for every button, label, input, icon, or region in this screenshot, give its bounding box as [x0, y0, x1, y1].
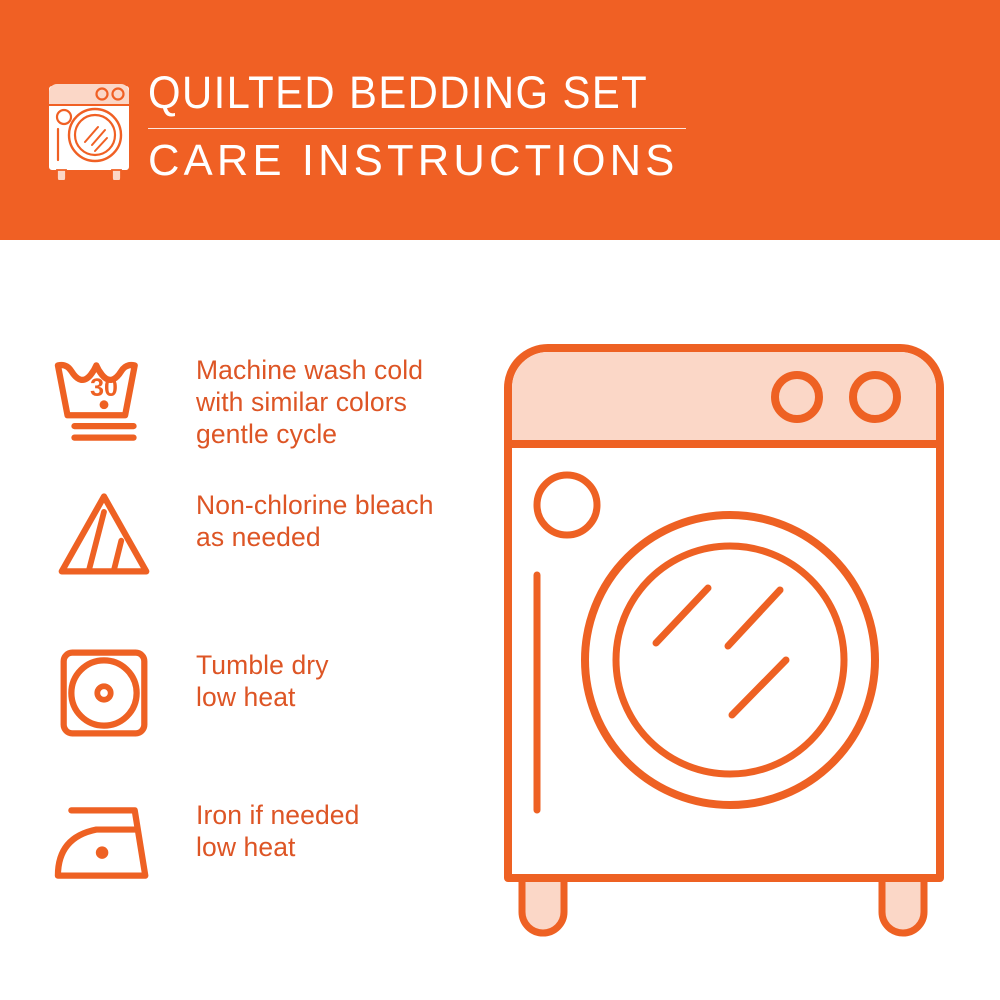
instruction-item-tumble-dry: Tumble dry low heat: [48, 643, 468, 743]
instruction-item-machine-wash: 30 Machine wash cold with similar colors…: [48, 348, 468, 450]
header-banner: QUILTED BEDDING SET CARE INSTRUCTIONS: [0, 0, 1000, 240]
instruction-text-tumble-dry: Tumble dry low heat: [196, 643, 329, 713]
instruction-line: gentle cycle: [196, 418, 423, 450]
care-instructions-list: 30 Machine wash cold with similar colors…: [0, 240, 480, 1000]
iron-low-heat-icon: [48, 793, 160, 893]
front-load-washing-machine-illustration: [490, 330, 980, 950]
page-subtitle: CARE INSTRUCTIONS: [148, 135, 688, 187]
header-text-block: QUILTED BEDDING SET CARE INSTRUCTIONS: [148, 68, 693, 187]
instruction-line: low heat: [196, 681, 329, 713]
instruction-line: as needed: [196, 521, 434, 553]
tumble-dry-low-heat-icon: [48, 643, 160, 743]
non-chlorine-bleach-triangle-icon: [48, 483, 160, 583]
instruction-item-iron: Iron if needed low heat: [48, 793, 468, 893]
instruction-line: Iron if needed: [196, 799, 359, 831]
washing-machine-icon: [45, 72, 145, 180]
instruction-text-machine-wash: Machine wash cold with similar colors ge…: [196, 348, 423, 450]
instruction-text-iron: Iron if needed low heat: [196, 793, 359, 863]
page-title: QUILTED BEDDING SET: [148, 68, 655, 118]
instruction-line: with similar colors: [196, 386, 423, 418]
title-divider: [148, 128, 686, 129]
instruction-text-bleach: Non-chlorine bleach as needed: [196, 483, 434, 553]
instruction-line: Non-chlorine bleach: [196, 489, 434, 521]
instruction-line: Machine wash cold: [196, 354, 423, 386]
wash-tub-30-gentle-icon: 30: [48, 348, 160, 448]
instruction-line: Tumble dry: [196, 649, 329, 681]
washer-control-panel: [512, 352, 936, 444]
wash-temperature-label: 30: [90, 374, 118, 402]
instruction-line: low heat: [196, 831, 359, 863]
instruction-item-bleach: Non-chlorine bleach as needed: [48, 483, 468, 583]
